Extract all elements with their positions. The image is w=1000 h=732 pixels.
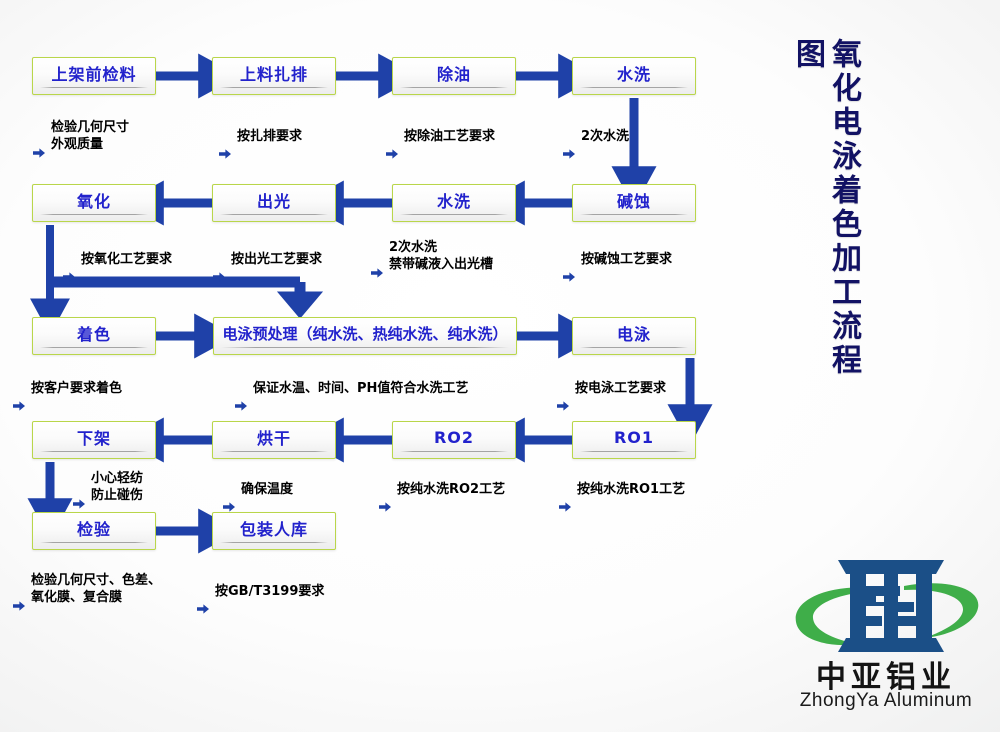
arrow-bullet-icon xyxy=(12,582,26,596)
arrow-bullet-icon xyxy=(32,129,46,143)
process-box-14[interactable]: RO2 xyxy=(392,421,516,459)
arrow-bullet-icon xyxy=(562,130,576,144)
process-box-15[interactable]: RO1 xyxy=(572,421,696,459)
process-box-7[interactable]: 水洗 xyxy=(392,184,516,222)
arrow-bullet-icon xyxy=(12,382,26,396)
note-2: 按扎排要求 xyxy=(218,128,302,145)
arrow-bullet-icon xyxy=(370,249,384,263)
page-title: 氧化电泳着色加工流程图 xyxy=(789,38,861,378)
logo-english-name: ZhongYa Aluminum xyxy=(778,690,994,712)
note-13: 确保温度 xyxy=(222,481,293,498)
diagram-title-block: 氧化电泳着色加工流程图 xyxy=(789,38,859,378)
note-12: 小心轻纺 防止碰伤 xyxy=(72,470,143,504)
note-11: 按电泳工艺要求 xyxy=(556,380,666,397)
process-box-12[interactable]: 下架 xyxy=(32,421,156,459)
process-box-2[interactable]: 上料扎排 xyxy=(212,57,336,95)
process-box-9[interactable]: 着色 xyxy=(32,317,156,355)
note-8: 按碱蚀工艺要求 xyxy=(562,251,672,268)
note-9: 按客户要求着色 xyxy=(12,380,122,397)
zhongya-monogram-icon xyxy=(778,552,994,664)
note-16: 检验几何尺寸、色差、 氧化膜、复合膜 xyxy=(12,572,161,606)
note-14: 按纯水洗RO2工艺 xyxy=(378,481,505,498)
company-logo: 中亚铝业 ZhongYa Aluminum xyxy=(778,552,994,724)
process-box-13[interactable]: 烘干 xyxy=(212,421,336,459)
arrow-bullet-icon xyxy=(218,130,232,144)
process-box-1[interactable]: 上架前检料 xyxy=(32,57,156,95)
process-box-6[interactable]: 出光 xyxy=(212,184,336,222)
flowchart-page: 上架前检料 上料扎排 除油 水洗 氧化 出光 水洗 碱蚀 着色 电泳预处理（纯水… xyxy=(0,0,1000,732)
process-box-3[interactable]: 除油 xyxy=(392,57,516,95)
process-box-8[interactable]: 碱蚀 xyxy=(572,184,696,222)
process-box-11[interactable]: 电泳 xyxy=(572,317,696,355)
arrow-bullet-icon xyxy=(234,382,248,396)
arrow-bullet-icon xyxy=(72,480,86,494)
arrow-bullet-icon xyxy=(212,253,226,267)
note-1: 检验几何尺寸 外观质量 xyxy=(32,119,129,153)
note-6: 按出光工艺要求 xyxy=(212,251,322,268)
process-box-5[interactable]: 氧化 xyxy=(32,184,156,222)
process-box-16[interactable]: 检验 xyxy=(32,512,156,550)
note-4: 2次水洗 xyxy=(562,128,629,145)
note-17: 按GB/T3199要求 xyxy=(196,583,324,600)
process-box-4[interactable]: 水洗 xyxy=(572,57,696,95)
note-15: 按纯水洗RO1工艺 xyxy=(558,481,685,498)
arrow-bullet-icon xyxy=(62,253,76,267)
note-10: 保证水温、时间、PH值符合水洗工艺 xyxy=(234,380,468,397)
note-3: 按除油工艺要求 xyxy=(385,128,495,145)
arrow-bullet-icon xyxy=(558,483,572,497)
branch-n5-arrowhead xyxy=(278,292,322,318)
arrow-bullet-icon xyxy=(196,585,210,599)
arrow-bullet-icon xyxy=(385,130,399,144)
process-box-17[interactable]: 包装人库 xyxy=(212,512,336,550)
note-7: 2次水洗 禁带碱液入出光槽 xyxy=(370,239,493,273)
arrow-bullet-icon xyxy=(562,253,576,267)
note-5: 按氧化工艺要求 xyxy=(62,251,172,268)
process-box-10[interactable]: 电泳预处理（纯水洗、热纯水洗、纯水洗） xyxy=(213,317,517,355)
arrow-bullet-icon xyxy=(222,483,236,497)
arrow-bullet-icon xyxy=(556,382,570,396)
arrow-bullet-icon xyxy=(378,483,392,497)
